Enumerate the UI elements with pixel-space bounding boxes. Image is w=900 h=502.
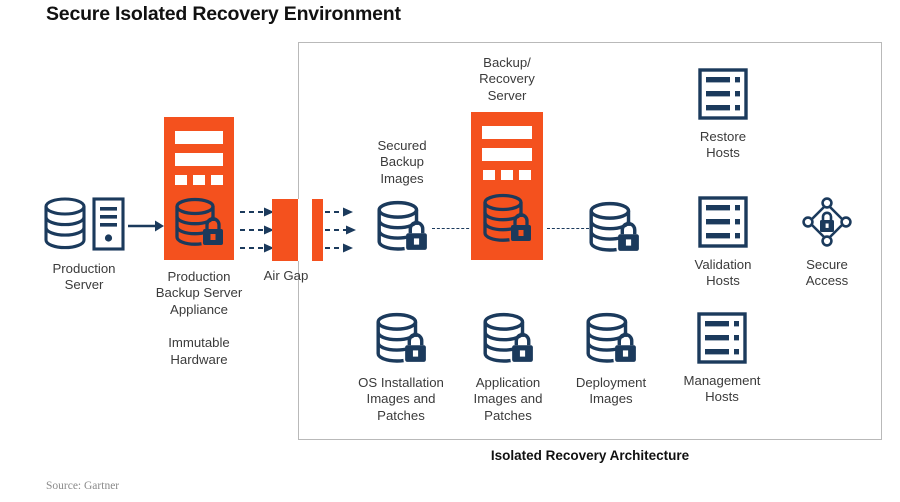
lock-glyph xyxy=(203,219,223,245)
lock-glyph xyxy=(618,224,639,251)
server-tower-icon xyxy=(94,199,123,249)
node-application-images[interactable]: Application Images and Patches xyxy=(455,312,561,424)
database-icon xyxy=(42,196,126,252)
database-lock-icon xyxy=(480,312,536,366)
server-rack-small-bars xyxy=(483,170,531,180)
database-lock-icon xyxy=(373,312,429,366)
node-secure-access[interactable]: Secure Access xyxy=(786,196,868,290)
lock-glyph xyxy=(820,213,834,232)
production-backup-appliance-panel xyxy=(164,117,234,260)
server-rack-bar xyxy=(175,153,223,166)
node-air-gap[interactable]: Air Gap xyxy=(240,198,356,284)
application-images-icon xyxy=(455,312,561,366)
node-production-server[interactable]: Production Server xyxy=(40,196,128,294)
management-hosts-label: Management Hosts xyxy=(672,373,772,406)
validation-hosts-label: Validation Hosts xyxy=(681,257,765,290)
lock-glyph xyxy=(405,335,426,362)
validation-hosts-icon xyxy=(681,196,765,248)
secure-access-icon xyxy=(786,196,868,248)
lock-glyph xyxy=(511,215,531,241)
node-secured-backup-images[interactable]: Secured Backup Images xyxy=(362,138,442,254)
air-gap-label: Air Gap xyxy=(241,268,331,284)
database-lock-icon xyxy=(480,193,534,245)
node-validation-hosts[interactable]: Validation Hosts xyxy=(681,196,765,290)
air-gap-barrier-icon xyxy=(240,198,356,262)
connector-backup-images-to-server xyxy=(432,228,474,229)
secured-backup-images-icon xyxy=(362,200,442,254)
lock-glyph xyxy=(512,335,533,362)
os-installation-images-label: OS Installation Images and Patches xyxy=(345,375,457,424)
database-lock-icon xyxy=(583,312,639,366)
server-rack-bar xyxy=(482,148,532,161)
connector-server-to-replica xyxy=(547,228,589,229)
node-backup-recovery-server[interactable]: Backup/ Recovery Server xyxy=(471,55,543,260)
secure-access-node-lock-icon xyxy=(801,196,853,248)
server-rack-small-bars xyxy=(175,175,223,185)
server-rack-bar xyxy=(175,131,223,144)
node-os-installation-images[interactable]: OS Installation Images and Patches xyxy=(345,312,457,424)
node-deployment-images[interactable]: Deployment Images xyxy=(563,312,659,408)
lock-glyph xyxy=(615,335,636,362)
secured-backup-images-label: Secured Backup Images xyxy=(362,138,442,187)
server-rack-icon xyxy=(697,312,747,364)
server-rack-bar xyxy=(482,126,532,139)
management-hosts-icon xyxy=(672,312,772,364)
connector-production-to-appliance xyxy=(128,219,164,233)
node-restore-hosts[interactable]: Restore Hosts xyxy=(681,68,765,162)
database-lock-icon xyxy=(172,197,226,249)
page-title: Secure Isolated Recovery Environment xyxy=(46,3,401,26)
secure-access-label: Secure Access xyxy=(786,257,868,290)
production-server-icons xyxy=(40,196,128,252)
production-backup-appliance-label: Production Backup Server Appliance xyxy=(144,269,254,318)
os-installation-images-icon xyxy=(345,312,457,366)
node-production-backup-appliance[interactable]: Production Backup Server Appliance Immut… xyxy=(164,117,234,368)
backup-recovery-server-panel xyxy=(471,112,543,260)
production-server-label: Production Server xyxy=(40,261,128,294)
server-rack-icon xyxy=(698,196,748,248)
boundary-caption: Isolated Recovery Architecture xyxy=(298,448,882,463)
node-management-hosts[interactable]: Management Hosts xyxy=(672,312,772,406)
restore-hosts-icon xyxy=(681,68,765,120)
server-rack-icon xyxy=(698,68,748,120)
application-images-label: Application Images and Patches xyxy=(455,375,561,424)
source-note: Source: Gartner xyxy=(46,480,119,492)
air-gap-bar-left xyxy=(272,199,298,261)
immutable-hardware-label: Immutable Hardware xyxy=(144,335,254,368)
air-gap-bar-right xyxy=(312,199,323,261)
database-lock-icon xyxy=(374,200,430,254)
deployment-images-label: Deployment Images xyxy=(563,375,659,408)
restore-hosts-label: Restore Hosts xyxy=(681,129,765,162)
database-lock-icon xyxy=(586,201,642,255)
diagram-canvas: Secure Isolated Recovery Environment Iso… xyxy=(0,0,900,502)
backup-recovery-server-label: Backup/ Recovery Server xyxy=(457,55,557,104)
lock-glyph xyxy=(406,223,427,250)
deployment-images-icon xyxy=(563,312,659,366)
node-replica-store[interactable] xyxy=(586,201,642,255)
